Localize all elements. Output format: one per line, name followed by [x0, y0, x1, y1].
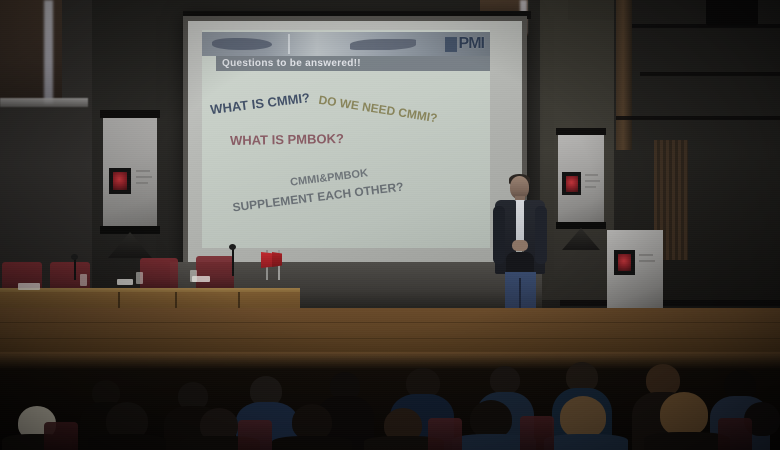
floor-plank-2	[0, 338, 780, 339]
table-microphone-2	[232, 248, 234, 276]
table-microphone-head-2	[229, 244, 236, 250]
audience-body	[544, 434, 628, 450]
audience-body	[272, 436, 352, 450]
wall-seam-2	[640, 72, 780, 76]
ceiling-speaker	[706, 0, 758, 26]
banner-left-text-line-1	[136, 170, 150, 172]
audience-seat	[428, 418, 462, 450]
slide-question-3: WHAT IS PMBOK?	[230, 131, 344, 148]
banner-right-tall-base-rail	[556, 222, 606, 229]
floor-plank-1	[0, 322, 780, 323]
audience-head	[560, 396, 606, 438]
panel-chair-3	[140, 258, 178, 292]
wall-seam-3	[616, 116, 780, 120]
audience-seat	[520, 416, 554, 450]
window-light	[44, 0, 53, 104]
audience-head	[292, 404, 332, 440]
banner-right-tall-logo	[562, 172, 581, 195]
slide-question-2: DO WE NEED CMMI?	[318, 93, 439, 126]
slide-header-shape-right	[350, 39, 416, 50]
banner-left-logo-mark	[113, 172, 127, 190]
banner-left-top-rail	[100, 110, 160, 118]
table-paper-2	[117, 279, 133, 285]
slide-header-shape-left	[212, 38, 272, 50]
banner-left-text-line-3	[136, 182, 148, 184]
audience-body	[88, 434, 166, 450]
audience-head	[660, 392, 708, 436]
banner-right-tall-logo-mark	[566, 176, 578, 192]
audience	[0, 352, 780, 450]
table-microphone-head-1	[71, 254, 78, 260]
slide-title: Questions to be answered!!	[222, 56, 488, 71]
table-glass-2	[136, 272, 143, 284]
banner-right-front-text-line-2	[639, 260, 655, 262]
table-glass-1	[80, 274, 87, 286]
projected-slide: PMI Questions to be answered!! WHAT IS C…	[202, 30, 490, 248]
presenter-arm-right	[535, 206, 547, 264]
banner-left	[100, 110, 160, 258]
pmi-logo: PMI	[416, 34, 484, 54]
table-glass-3	[190, 270, 197, 282]
audience-head	[490, 366, 520, 394]
banner-right-tall-stand	[562, 228, 600, 250]
right-wall-wood-column	[616, 0, 632, 150]
panel-chair-4	[196, 256, 234, 290]
window-sill	[0, 98, 88, 107]
banner-left-logo	[109, 168, 131, 194]
presenter-hands	[512, 240, 528, 251]
slide-body: WHAT IS CMMI? DO WE NEED CMMI? WHAT IS P…	[202, 74, 490, 248]
banner-right-tall-text-line-2	[585, 180, 600, 182]
table-flag-2	[272, 252, 282, 267]
slide-question-1: WHAT IS CMMI?	[209, 90, 310, 117]
table-flag	[261, 252, 272, 268]
presenter-arm-left	[493, 206, 505, 264]
audience-seat	[44, 422, 78, 450]
banner-left-text-line-2	[136, 176, 152, 178]
banner-right-front-logo-mark	[618, 254, 631, 271]
banner-right-tall	[556, 128, 606, 250]
slide-header-divider	[288, 34, 290, 54]
banner-right-tall-text-line-1	[585, 174, 598, 176]
banner-right-front-text-line-1	[639, 254, 653, 256]
audience-seat	[718, 418, 752, 450]
table-paper-1	[18, 283, 40, 290]
banner-right-front-logo	[614, 250, 635, 275]
audience-head	[470, 400, 512, 438]
banner-right-tall-top-rail	[556, 128, 606, 135]
banner-right-tall-text-line-3	[585, 186, 596, 188]
pmi-logo-mark	[445, 37, 457, 52]
wall-seam-4	[560, 300, 780, 306]
presenter	[488, 176, 552, 328]
pmi-logo-text: PMI	[459, 35, 484, 53]
audience-seat	[238, 420, 272, 450]
table-microphone-1	[74, 258, 76, 280]
wall-seam-1	[632, 24, 780, 28]
presentation-photo: PMI Questions to be answered!! WHAT IS C…	[0, 0, 780, 450]
banner-left-stand	[108, 232, 152, 258]
